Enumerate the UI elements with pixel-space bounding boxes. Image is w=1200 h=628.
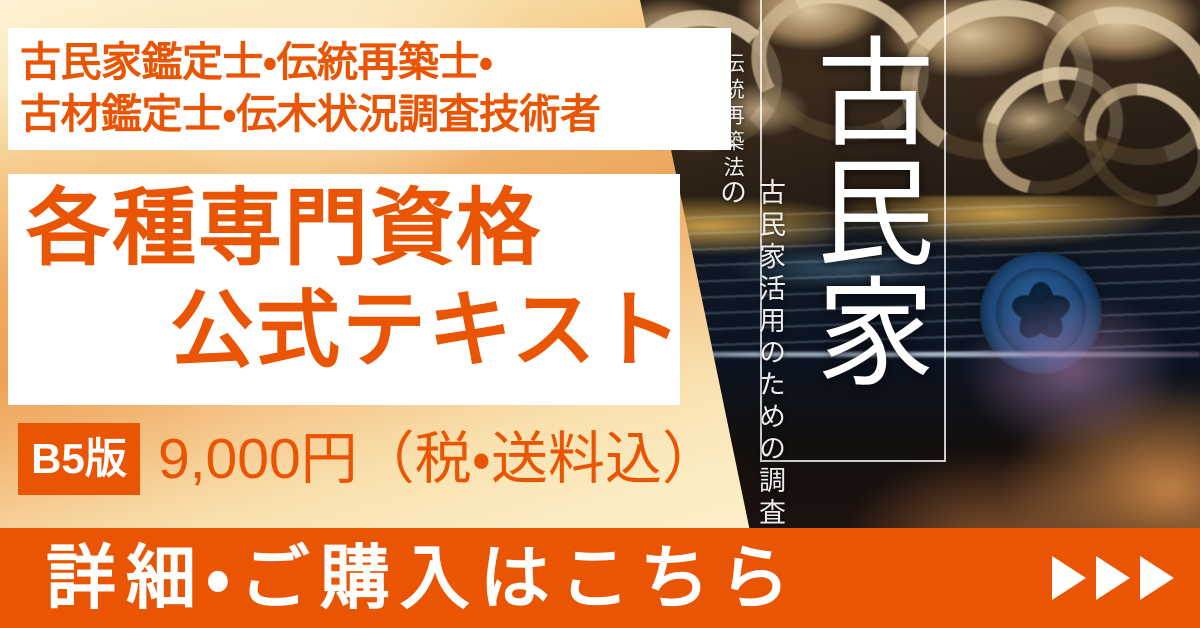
promotional-banner: 古民家 伝統再築法 古民家活用のための調査と再生の 古民家鑑定士・伝統再築士・ … — [0, 0, 1200, 628]
cta-bar[interactable]: 詳細・ご購入はこちら — [0, 528, 1200, 628]
qualifications-line-2: 古材鑑定士・伝木状況調査技術者 — [20, 88, 720, 140]
heading-line-1: 各種専門資格 — [26, 186, 542, 270]
qualifications-line-1: 古民家鑑定士・伝統再築士・ — [20, 36, 720, 88]
cta-label: 詳細・ご購入はこちら — [46, 530, 800, 626]
cta-arrow-group — [1052, 528, 1174, 628]
cover-title: 古民家 — [776, 0, 926, 426]
size-badge: B5版 — [18, 423, 140, 495]
heading-line-2: 公式テキスト — [170, 288, 683, 372]
triangle-right-icon — [1140, 556, 1174, 600]
triangle-right-icon — [1052, 556, 1086, 600]
qualifications-text: 古民家鑑定士・伝統再築士・ 古材鑑定士・伝木状況調査技術者 — [20, 36, 720, 141]
price-text: 9,000円（税・送料込） — [158, 425, 719, 493]
triangle-right-icon — [1096, 556, 1130, 600]
